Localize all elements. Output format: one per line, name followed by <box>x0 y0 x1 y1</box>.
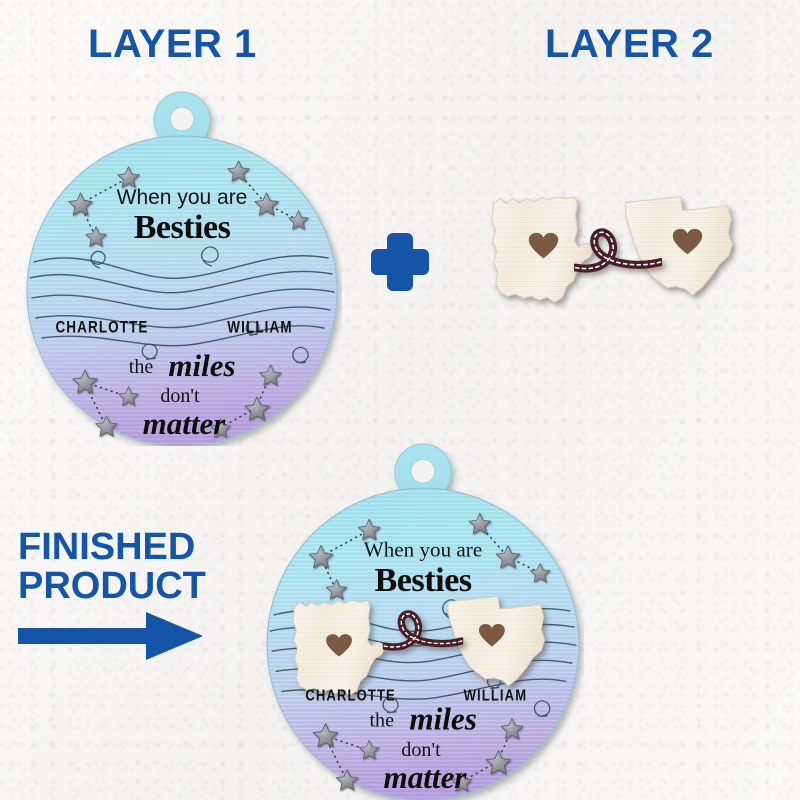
finished-product-line-1: FINISHED <box>18 528 206 567</box>
plus-sign-icon <box>371 233 429 291</box>
quote-besties: Besties <box>134 209 231 246</box>
layer-1-ornament: When you are Besties CHARLOTTE WILLIAM t… <box>22 86 342 452</box>
name-left: CHARLOTTE <box>55 318 148 337</box>
quote-the: the <box>129 356 154 378</box>
fp-quote-matter: matter <box>383 760 467 795</box>
right-arrow-icon <box>18 610 203 662</box>
name-right: WILLIAM <box>227 318 292 337</box>
finished-product-line-2: PRODUCT <box>18 567 206 606</box>
layer-2-states <box>476 180 746 325</box>
layer-2-title: LAYER 2 <box>545 22 714 67</box>
finished-product-title: FINISHED PRODUCT <box>18 528 206 606</box>
quote-matter: matter <box>143 406 227 441</box>
finished-product-ornament: When you are Besties CHARLOTTE WILLIAM t… <box>258 438 588 800</box>
layer-1-title: LAYER 1 <box>88 22 257 67</box>
fp-quote-the: the <box>369 710 394 732</box>
fp-quote-when-you-are: When you are <box>364 538 482 562</box>
fp-quote-miles: miles <box>409 702 477 737</box>
quote-when-you-are: When you are <box>117 186 248 209</box>
fp-quote-besties: Besties <box>374 562 471 599</box>
quote-dont: don't <box>160 385 200 407</box>
fp-quote-dont: don't <box>401 739 441 761</box>
quote-miles: miles <box>168 348 235 383</box>
fp-name-left: CHARLOTTE <box>305 687 396 704</box>
